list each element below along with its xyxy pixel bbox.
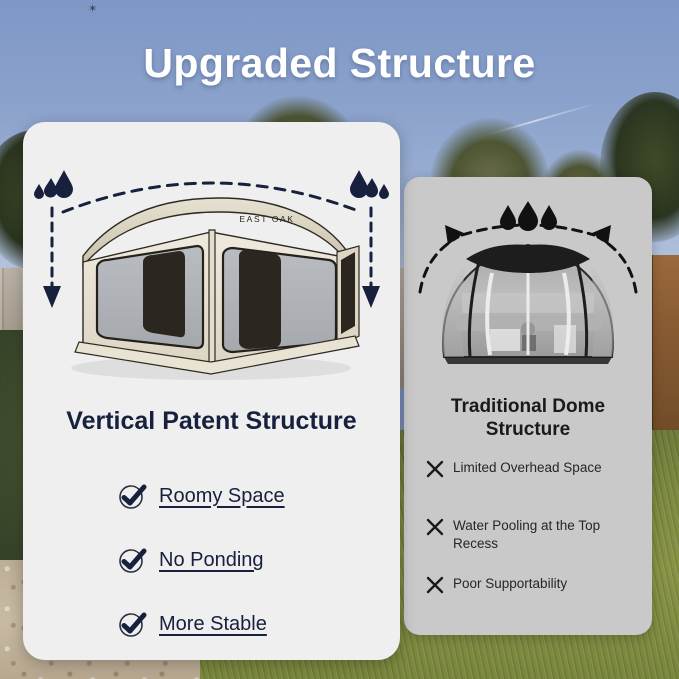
right-door-opening	[239, 250, 281, 349]
traditional-dome-card: Traditional Dome Structure Limited Overh…	[404, 177, 652, 635]
right-water-droplets-icon	[350, 170, 389, 199]
right-down-arrow-icon	[362, 208, 380, 308]
left-down-arrow-icon	[43, 208, 61, 308]
traditional-dome-heading: Traditional Dome Structure	[418, 395, 638, 441]
vertical-patent-card: EAST OAK	[23, 122, 400, 660]
list-item: Roomy Space	[23, 464, 400, 528]
list-item: Limited Overhead Space	[426, 459, 640, 517]
left-water-droplets-icon	[34, 170, 73, 199]
right-panel-slot	[341, 252, 355, 334]
feature-list: Roomy Space No Ponding M	[23, 464, 400, 656]
vertical-patent-heading: Vertical Patent Structure	[23, 407, 400, 436]
x-icon	[426, 518, 444, 536]
center-post	[209, 230, 215, 368]
x-icon	[426, 460, 444, 478]
check-circle-icon	[117, 545, 147, 575]
list-item-label: No Ponding	[159, 549, 264, 572]
dome-tent-illustration	[404, 197, 652, 382]
list-item: More Stable	[23, 592, 400, 656]
x-icon	[426, 576, 444, 594]
list-item-label: More Stable	[159, 613, 267, 636]
brand-label: EAST OAK	[239, 214, 294, 224]
list-item: Water Pooling at the Top Recess	[426, 517, 640, 575]
infographic-stage: ✶ Upgraded Structure	[0, 0, 679, 679]
list-item: No Ponding	[23, 528, 400, 592]
list-item-label: Water Pooling at the Top Recess	[453, 517, 640, 553]
dome-base	[444, 357, 612, 364]
drawback-list: Limited Overhead Space Water Pooling at …	[426, 459, 640, 633]
list-item: Poor Supportability	[426, 575, 640, 633]
check-circle-icon	[117, 609, 147, 639]
check-circle-icon	[117, 481, 147, 511]
left-door-opening	[143, 251, 185, 337]
list-item-label: Roomy Space	[159, 485, 285, 508]
list-item-label: Poor Supportability	[453, 575, 567, 593]
bird-icon: ✶	[88, 4, 97, 15]
page-title: Upgraded Structure	[0, 40, 679, 87]
list-item-label: Limited Overhead Space	[453, 459, 602, 477]
vertical-tent-illustration: EAST OAK	[23, 136, 400, 406]
